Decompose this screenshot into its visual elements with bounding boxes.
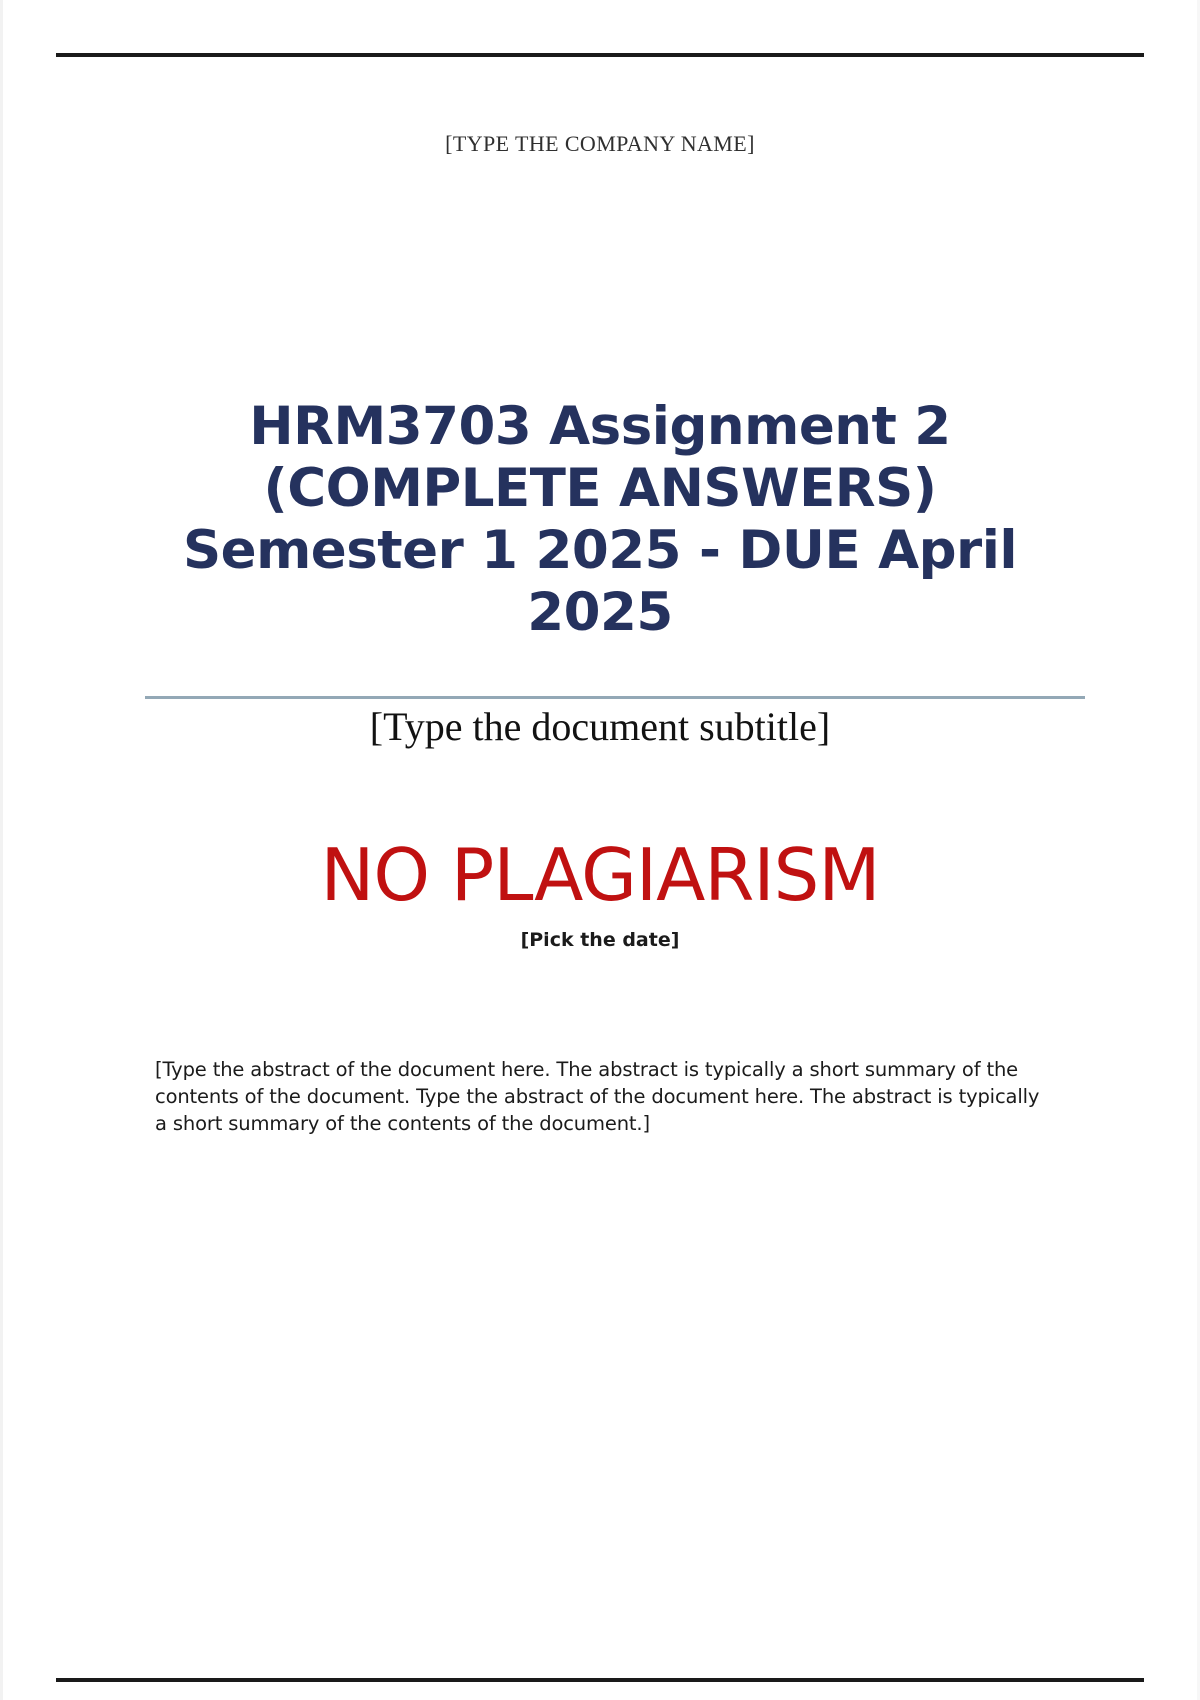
date-placeholder: [Pick the date] <box>0 928 1200 952</box>
title-divider-rule <box>145 696 1085 699</box>
document-subtitle-placeholder: [Type the document subtitle] <box>0 702 1200 752</box>
document-cover-page: [TYPE THE COMPANY NAME] HRM3703 Assignme… <box>0 0 1200 1700</box>
no-plagiarism-notice: NO PLAGIARISM <box>0 836 1200 914</box>
abstract-placeholder-text: [Type the abstract of the document here.… <box>155 1056 1055 1137</box>
company-name-placeholder: [TYPE THE COMPANY NAME] <box>0 131 1200 157</box>
page-border-rule-top <box>56 53 1144 57</box>
document-title: HRM3703 Assignment 2 (COMPLETE ANSWERS) … <box>145 396 1055 644</box>
page-border-rule-bottom <box>56 1678 1144 1682</box>
